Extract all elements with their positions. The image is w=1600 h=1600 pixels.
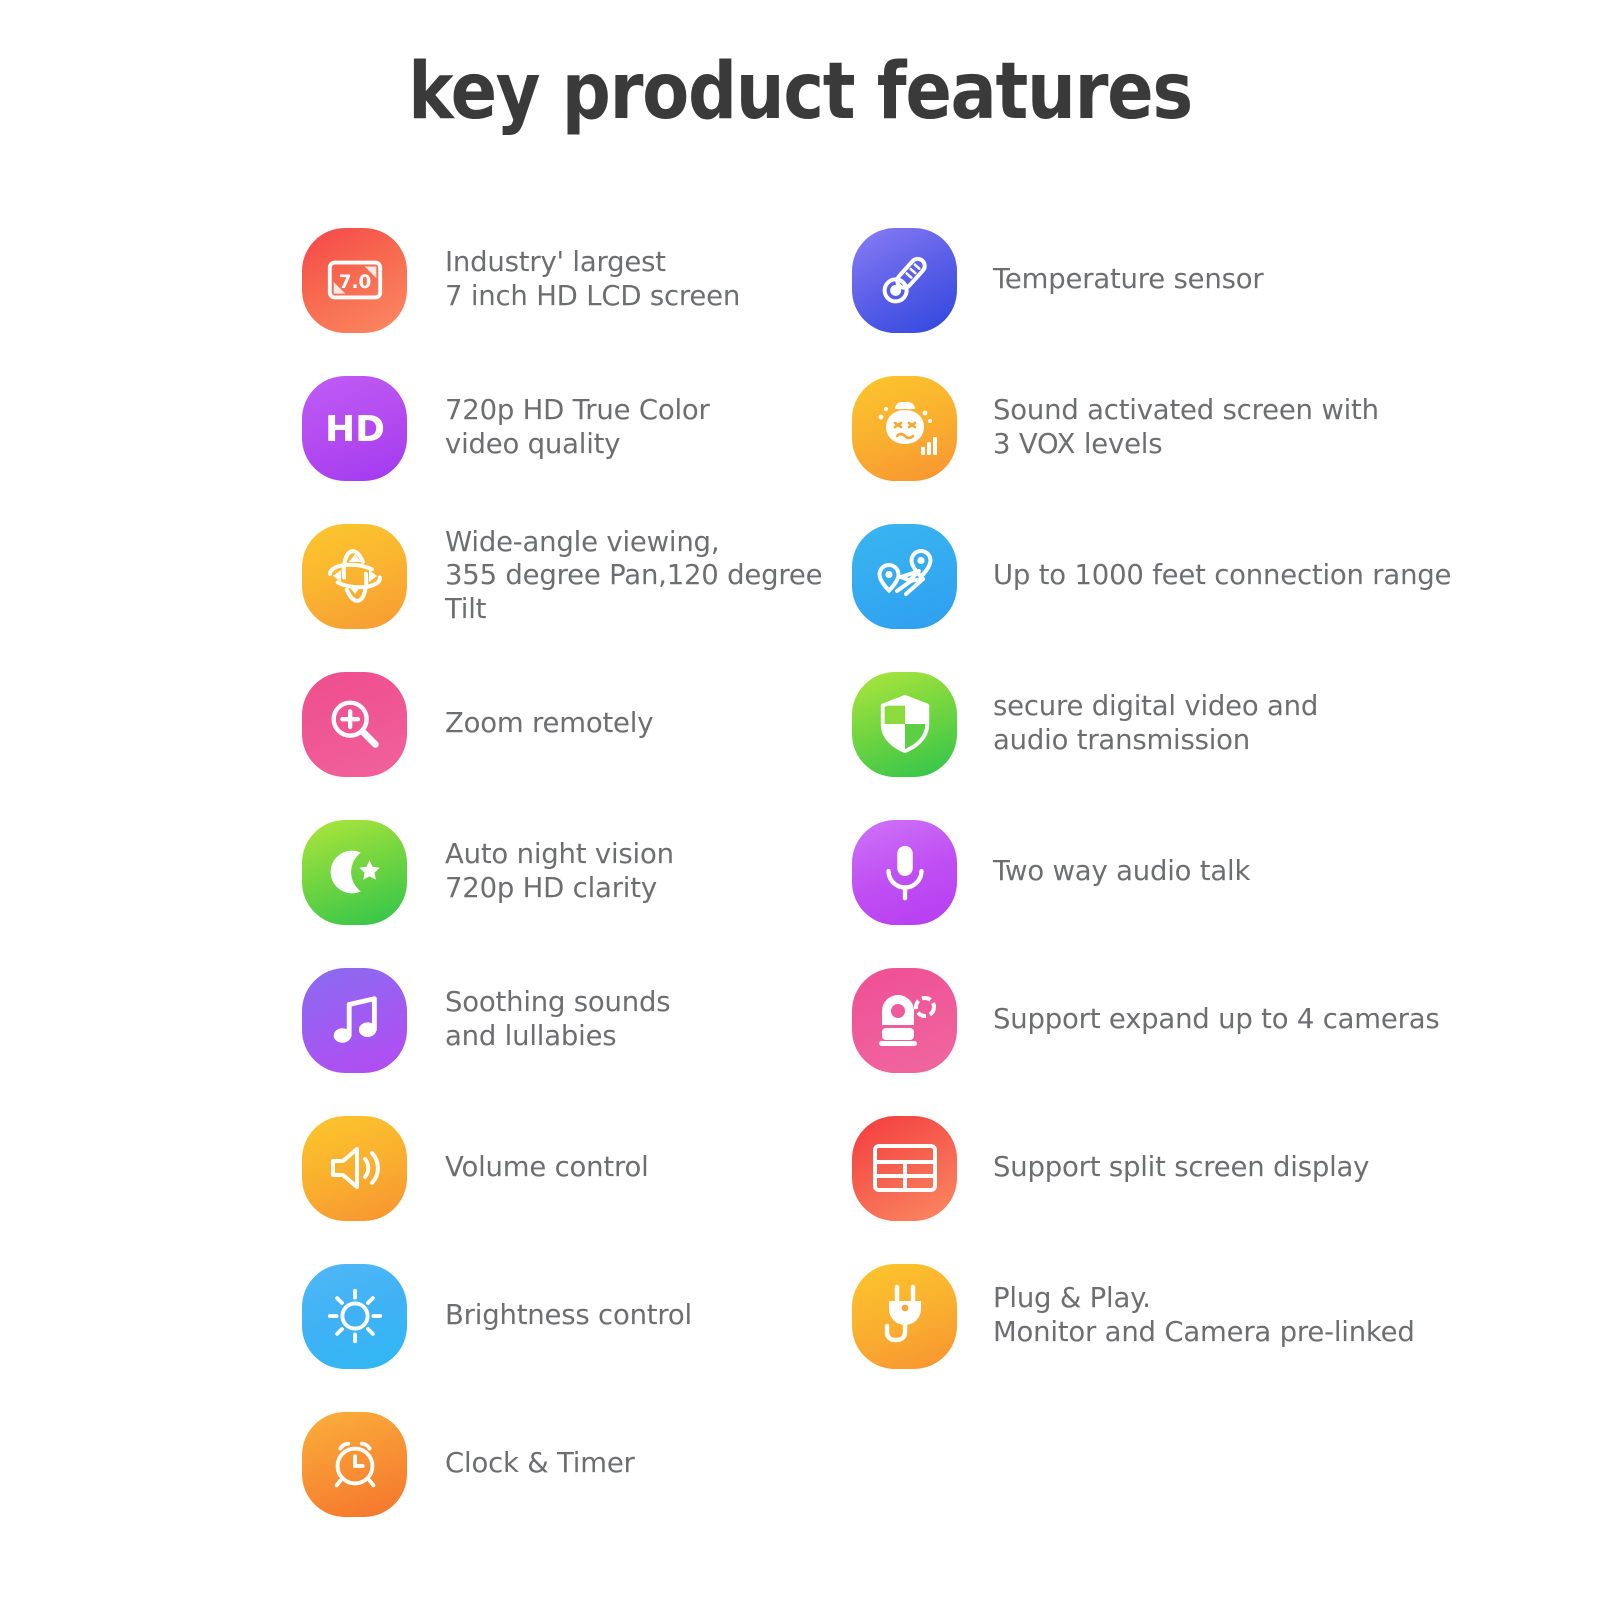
feature-label: Brightness control	[445, 1299, 692, 1333]
camera-expand-icon	[852, 968, 957, 1073]
feature-label: Up to 1000 feet connection range	[993, 559, 1451, 593]
microphone-icon	[852, 820, 957, 925]
brightness-sun-icon	[302, 1264, 407, 1369]
feature-label: Zoom remotely	[445, 707, 653, 741]
feature-row[interactable]: Soothing sounds and lullabies	[302, 946, 862, 1094]
power-plug-icon	[852, 1264, 957, 1369]
feature-row[interactable]: 7.0 Industry' largest 7 inch HD LCD scre…	[302, 206, 862, 354]
screen-size-7-icon: 7.0	[302, 228, 407, 333]
feature-label: Sound activated screen with 3 VOX levels	[993, 394, 1379, 461]
thermometer-icon	[852, 228, 957, 333]
features-column-right: Temperature sensor	[852, 206, 1472, 1390]
feature-row[interactable]: Wide-angle viewing, 355 degree Pan,120 d…	[302, 502, 862, 650]
svg-text:HD: HD	[324, 409, 384, 450]
feature-label: Industry' largest 7 inch HD LCD screen	[445, 246, 740, 313]
feature-label: Plug & Play. Monitor and Camera pre-link…	[993, 1282, 1415, 1349]
music-note-icon	[302, 968, 407, 1073]
feature-label: secure digital video and audio transmiss…	[993, 690, 1318, 757]
feature-row[interactable]: Support expand up to 4 cameras	[852, 946, 1472, 1094]
page-title: key product features	[96, 52, 1504, 134]
volume-speaker-icon	[302, 1116, 407, 1221]
feature-row[interactable]: Auto night vision 720p HD clarity	[302, 798, 862, 946]
feature-row[interactable]: Brightness control	[302, 1242, 862, 1390]
feature-label: Temperature sensor	[993, 263, 1263, 297]
features-column-left: 7.0 Industry' largest 7 inch HD LCD scre…	[302, 206, 862, 1538]
pan-tilt-rotate-icon	[302, 524, 407, 629]
feature-row[interactable]: Zoom remotely	[302, 650, 862, 798]
feature-row[interactable]: HD 720p HD True Color video quality	[302, 354, 862, 502]
alarm-clock-icon	[302, 1412, 407, 1517]
shield-secure-icon	[852, 672, 957, 777]
feature-label: Wide-angle viewing, 355 degree Pan,120 d…	[445, 526, 862, 627]
features-columns: 7.0 Industry' largest 7 inch HD LCD scre…	[0, 206, 1600, 1546]
feature-row[interactable]: Up to 1000 feet connection range	[852, 502, 1472, 650]
night-vision-moon-icon	[302, 820, 407, 925]
svg-text:7.0: 7.0	[338, 272, 371, 293]
feature-label: 720p HD True Color video quality	[445, 394, 710, 461]
crying-baby-vox-icon	[852, 376, 957, 481]
feature-label: Soothing sounds and lullabies	[445, 986, 670, 1053]
feature-row[interactable]: Temperature sensor	[852, 206, 1472, 354]
feature-row[interactable]: Volume control	[302, 1094, 862, 1242]
hd-badge-icon: HD	[302, 376, 407, 481]
split-screen-icon	[852, 1116, 957, 1221]
key-features-page: key product features 7.0 Industry' large…	[0, 0, 1600, 1600]
feature-label: Support split screen display	[993, 1151, 1369, 1185]
zoom-magnifier-icon	[302, 672, 407, 777]
feature-label: Volume control	[445, 1151, 649, 1185]
feature-row[interactable]: Plug & Play. Monitor and Camera pre-link…	[852, 1242, 1472, 1390]
feature-label: Support expand up to 4 cameras	[993, 1003, 1439, 1037]
feature-row[interactable]: Sound activated screen with 3 VOX levels	[852, 354, 1472, 502]
feature-row[interactable]: secure digital video and audio transmiss…	[852, 650, 1472, 798]
feature-row[interactable]: Two way audio talk	[852, 798, 1472, 946]
feature-label: Clock & Timer	[445, 1447, 635, 1481]
connection-range-pins-icon	[852, 524, 957, 629]
feature-row[interactable]: Support split screen display	[852, 1094, 1472, 1242]
feature-row[interactable]: Clock & Timer	[302, 1390, 862, 1538]
feature-label: Auto night vision 720p HD clarity	[445, 838, 674, 905]
feature-label: Two way audio talk	[993, 855, 1250, 889]
